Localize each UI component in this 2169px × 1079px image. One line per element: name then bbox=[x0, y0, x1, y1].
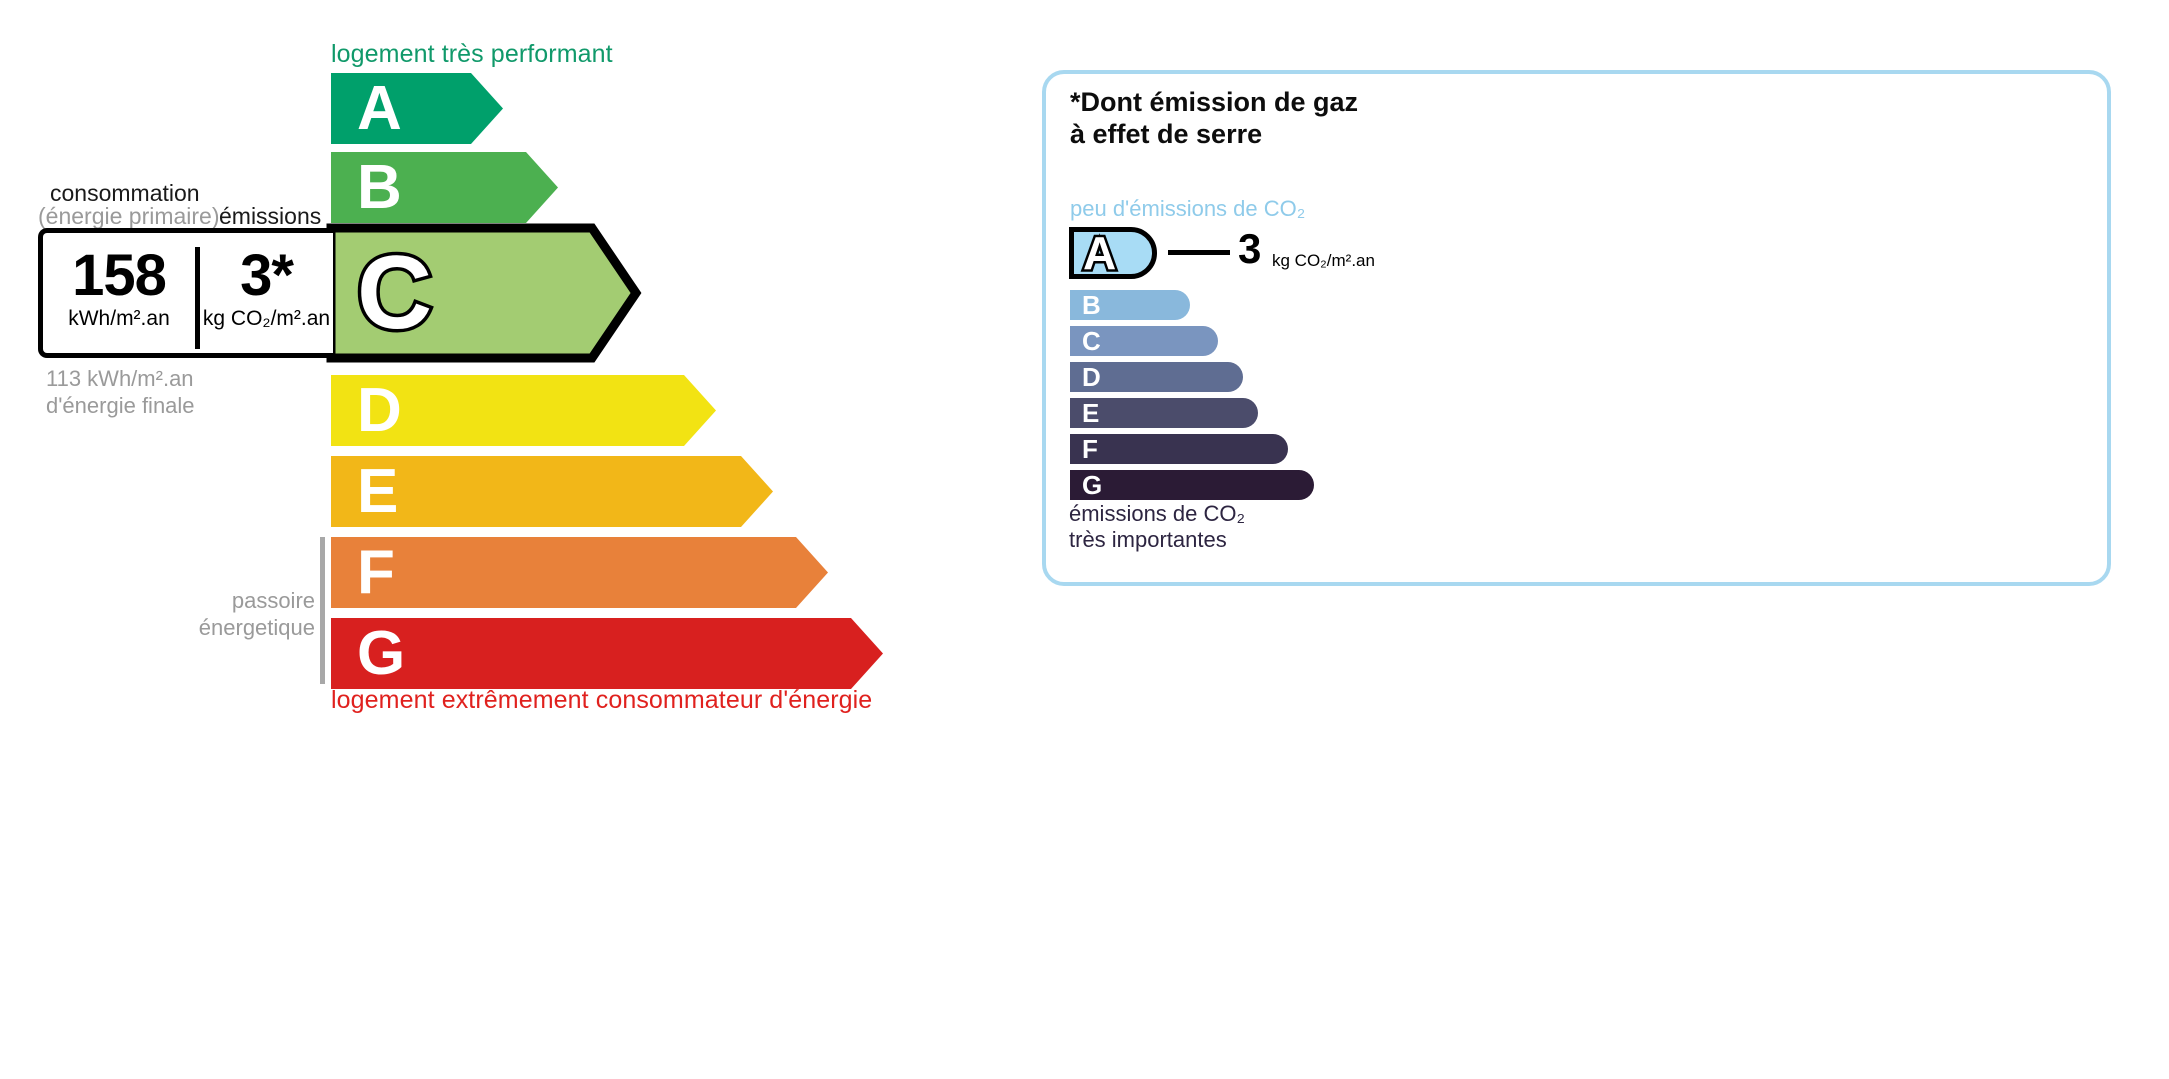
co2-bar-d-letter: D bbox=[1082, 364, 1101, 390]
co2-bar-c-letter: C bbox=[1082, 328, 1101, 354]
co2-title-line2: à effet de serre bbox=[1070, 119, 1358, 151]
final-energy-line2: d'énergie finale bbox=[46, 392, 195, 419]
co2-panel-title: *Dont émission de gaz à effet de serre bbox=[1070, 87, 1358, 151]
emission-cell: 3* kg CO₂/m².an bbox=[200, 247, 333, 331]
co2-bar-e-letter: E bbox=[1082, 400, 1099, 426]
co2-top-annotation: peu d'émissions de CO₂ bbox=[1070, 196, 1305, 222]
caption-emissions: émissions bbox=[219, 203, 321, 230]
primary-energy-cell: 158 kWh/m².an bbox=[43, 247, 195, 331]
co2-bar-b[interactable]: B bbox=[1070, 290, 1190, 320]
passoire-line1: passoire bbox=[189, 588, 315, 615]
energy-bar-g-letter: G bbox=[357, 623, 405, 685]
co2-title-line1: *Dont émission de gaz bbox=[1070, 87, 1358, 119]
energy-bar-c-letter: C bbox=[357, 241, 432, 345]
co2-bar-e[interactable]: E bbox=[1070, 398, 1258, 428]
emission-unit: kg CO₂/m².an bbox=[200, 307, 333, 331]
co2-bar-a-letter: A bbox=[1083, 230, 1116, 276]
co2-callout-unit: kg CO₂/m².an bbox=[1272, 251, 1375, 271]
energy-bar-f-shape bbox=[331, 537, 828, 608]
emission-value: 3* bbox=[200, 247, 333, 305]
energy-bar-b-letter: B bbox=[357, 157, 402, 219]
co2-bar-g-letter: G bbox=[1082, 472, 1102, 498]
primary-energy-unit: kWh/m².an bbox=[43, 307, 195, 331]
energy-top-annotation: logement très performant bbox=[331, 40, 613, 69]
energy-bar-a-letter: A bbox=[357, 78, 402, 140]
energy-bottom-annotation: logement extrêmement consommateur d'éner… bbox=[331, 686, 872, 715]
primary-energy-value: 158 bbox=[43, 247, 195, 305]
energy-bar-d[interactable]: D bbox=[331, 375, 716, 446]
energy-bar-f-letter: F bbox=[357, 542, 395, 604]
co2-bar-f[interactable]: F bbox=[1070, 434, 1288, 464]
energy-bar-e-letter: E bbox=[357, 461, 398, 523]
co2-bar-g[interactable]: G bbox=[1070, 470, 1314, 500]
energy-bar-a[interactable]: A bbox=[331, 73, 503, 144]
energy-bar-g-shape bbox=[331, 618, 883, 689]
co2-bar-f-letter: F bbox=[1082, 436, 1098, 462]
energy-bar-e[interactable]: E bbox=[331, 456, 773, 527]
final-energy-line1: 113 kWh/m².an bbox=[46, 365, 195, 392]
co2-bottom-annotation: émissions de CO₂ très importantes bbox=[1069, 501, 1245, 554]
energy-bar-c-selected[interactable]: C bbox=[331, 228, 641, 358]
co2-callout-leader-line bbox=[1168, 250, 1230, 255]
energy-bar-f[interactable]: F bbox=[331, 537, 828, 608]
co2-bar-a-selected[interactable]: A bbox=[1069, 227, 1157, 279]
energy-bar-g[interactable]: G bbox=[331, 618, 883, 689]
passoire-line2: énergetique bbox=[189, 615, 315, 642]
passoire-bracket-line bbox=[320, 537, 325, 684]
caption-consumption-sub: (énergie primaire) bbox=[38, 203, 220, 230]
co2-bar-b-letter: B bbox=[1082, 292, 1101, 318]
value-box: 158 kWh/m².an 3* kg CO₂/m².an bbox=[38, 228, 333, 358]
co2-bottom-line1: émissions de CO₂ bbox=[1069, 501, 1245, 527]
co2-callout-value: 3 bbox=[1238, 228, 1261, 270]
co2-bar-d[interactable]: D bbox=[1070, 362, 1243, 392]
dpe-diagram: logement très performant A B C D E bbox=[0, 0, 2169, 1079]
final-energy-note: 113 kWh/m².an d'énergie finale bbox=[46, 365, 195, 419]
energy-bar-d-letter: D bbox=[357, 380, 402, 442]
co2-bar-c[interactable]: C bbox=[1070, 326, 1218, 356]
energy-bar-b[interactable]: B bbox=[331, 152, 558, 223]
co2-bottom-line2: très importantes bbox=[1069, 527, 1245, 553]
passoire-energetique-label: passoire énergetique bbox=[189, 588, 315, 642]
